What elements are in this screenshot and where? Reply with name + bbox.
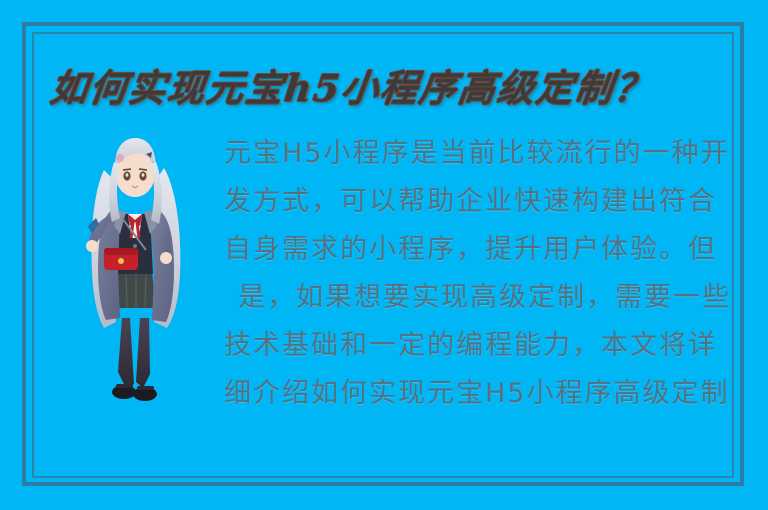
character-illustration [46,122,222,410]
hair-flower-ornament [116,154,124,162]
poster-canvas: 如何实现元宝h5小程序高级定制？ [0,0,768,510]
body-copy: 元宝H5小程序是当前比较流行的一种开 发方式，可以帮助企业快速构建出符合 自身需… [224,130,736,420]
body-line: 细介绍如何实现元宝H5小程序高级定制 [224,370,736,418]
hair-side-right [151,162,162,224]
body-line: 是，如果想要实现高级定制，需要一些 [224,274,736,322]
hand-raised [86,240,98,252]
hand-right [160,252,172,264]
body-line: 元宝H5小程序是当前比较流行的一种开 [224,130,736,178]
skirt [114,272,156,308]
page-title: 如何实现元宝h5小程序高级定制？ [48,58,714,110]
leg-right [136,318,150,388]
body-line: 发方式，可以帮助企业快速构建出符合 [224,178,736,226]
body-line: 自身需求的小程序，提升用户体验。但 [224,226,736,274]
body-line: 技术基础和一定的编程能力，本文将详 [224,322,736,370]
hair-side-left [109,162,120,222]
leg-left [118,318,134,388]
